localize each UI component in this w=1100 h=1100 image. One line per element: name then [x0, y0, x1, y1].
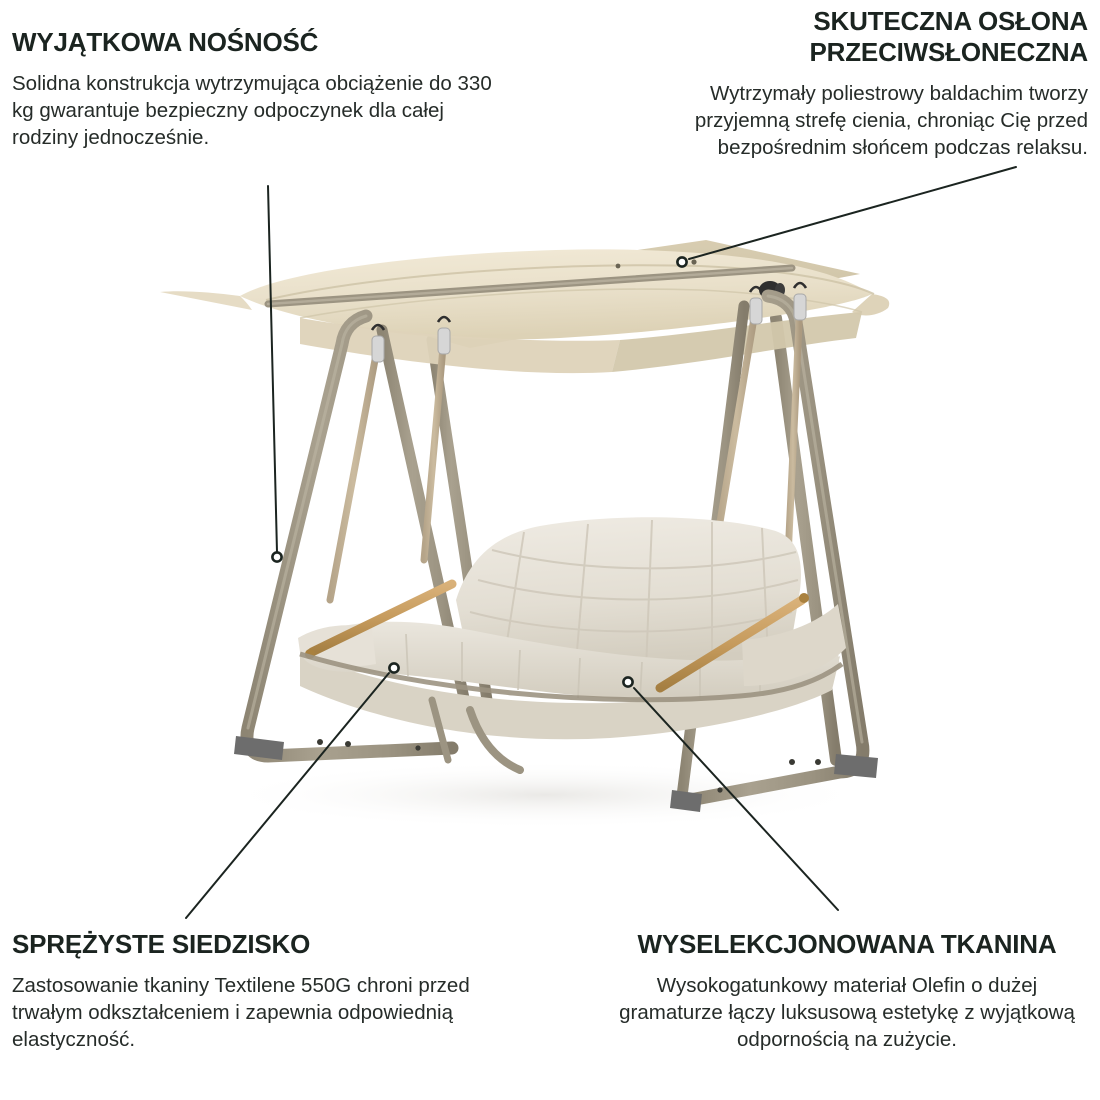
feature-heading-seat: SPRĘŻYSTE SIEDZISKO: [12, 928, 512, 960]
feature-body-fabric: Wysokogatunkowy materiał Olefin o dużej …: [606, 972, 1088, 1053]
feature-heading-sun-protection-line1: SKUTECZNA OSŁONA: [813, 6, 1088, 36]
infographic-canvas: WYJĄTKOWA NOŚNOŚĆ Solidna konstrukcja wy…: [0, 0, 1100, 1100]
feature-body-seat: Zastosowanie tkaniny Textilene 550G chro…: [12, 972, 512, 1053]
feature-block-bottom-right: WYSELEKCJONOWANA TKANINA Wysokogatunkowy…: [606, 928, 1088, 1053]
feature-heading-sun-protection: SKUTECZNA OSŁONA PRZECIWSŁONECZNA: [618, 6, 1088, 68]
foot-right: [834, 754, 878, 778]
foot-left: [234, 736, 284, 760]
feature-block-top-left: WYJĄTKOWA NOŚNOŚĆ Solidna konstrukcja wy…: [12, 26, 512, 151]
feature-heading-sun-protection-line2: PRZECIWSŁONECZNA: [810, 37, 1088, 67]
seat-assembly: [298, 517, 846, 770]
feature-block-top-right: SKUTECZNA OSŁONA PRZECIWSŁONECZNA Wytrzy…: [618, 6, 1088, 161]
feature-body-sun-protection: Wytrzymały poliestrowy baldachim tworzy …: [618, 80, 1088, 161]
feature-heading-fabric: WYSELEKCJONOWANA TKANINA: [606, 928, 1088, 960]
feature-heading-load-capacity: WYJĄTKOWA NOŚNOŚĆ: [12, 26, 512, 58]
feature-body-load-capacity: Solidna konstrukcja wytrzymująca obciąże…: [12, 70, 512, 151]
feature-block-bottom-left: SPRĘŻYSTE SIEDZISKO Zastosowanie tkaniny…: [12, 928, 512, 1053]
